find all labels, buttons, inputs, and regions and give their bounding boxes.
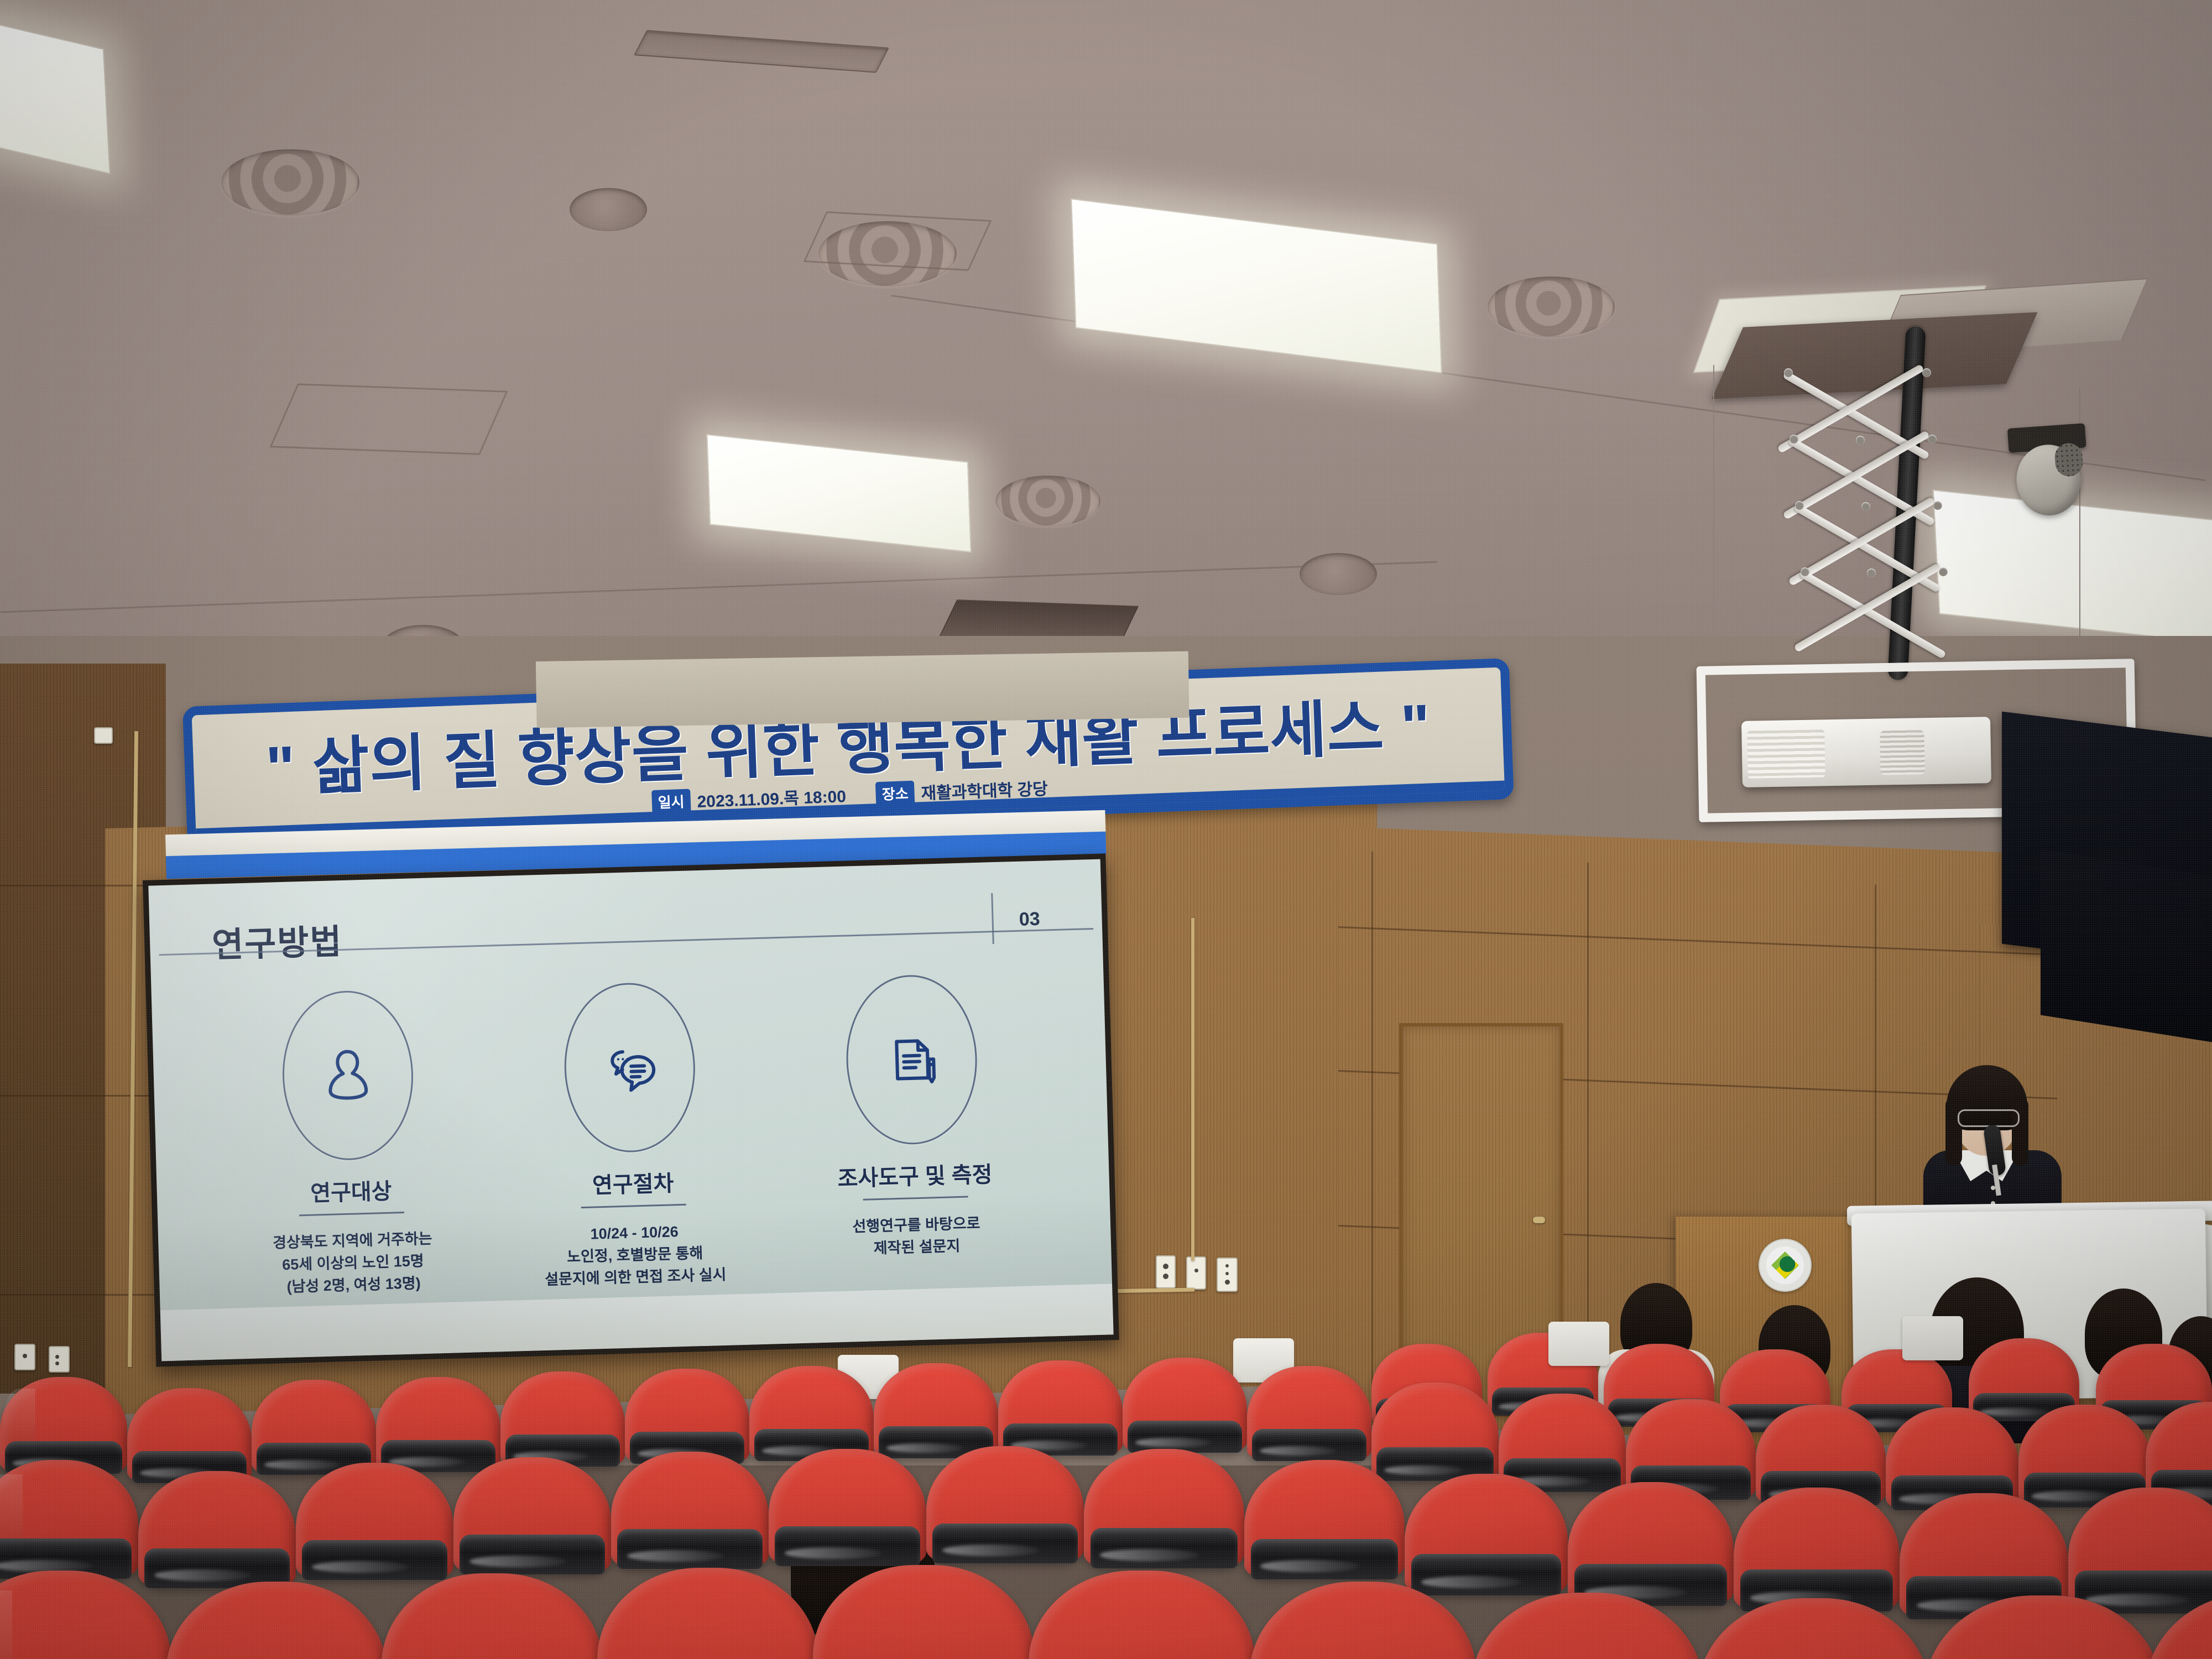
auditorium-seat[interactable] [296,1463,453,1580]
ceiling-downlight [570,188,647,231]
ceiling-light-panel [706,434,971,553]
ceiling-access-panel [269,383,508,455]
wall-outlet-plate[interactable] [14,1344,35,1370]
auditorium-seat[interactable] [1244,1460,1405,1579]
wall-outlet-plate[interactable] [1156,1255,1176,1288]
auditorium-seat[interactable] [769,1449,926,1566]
slide-column: 조사도구 및 측정 선행연구를 바탕으로 제작된 설문지 [799,972,1028,1284]
auditorium-seat[interactable] [1123,1358,1247,1453]
slide-page-number: 03 [1019,909,1040,931]
document-pencil-icon [878,1026,946,1094]
auditorium-seat[interactable] [166,1582,387,1659]
icon-circle [280,989,415,1162]
ceiling-access-panel [803,211,992,271]
auditorium-seat[interactable] [1405,1474,1568,1595]
banner-date-tag: 일시 [651,789,691,814]
auditorium-seat[interactable] [749,1366,874,1461]
projector-fan-grill [1880,730,1924,775]
ceiling-vent [221,149,359,216]
wall-outlet-plate[interactable] [49,1346,70,1373]
ceiling-slot-vent [634,30,889,73]
icon-circle [562,981,697,1154]
speech-bubbles-icon [596,1034,664,1102]
slide-column-body: 경상북도 지역에 거주하는 65세 이상의 노인 15명 (남성 2명, 여성 … [273,1228,434,1299]
auditorium-seat[interactable] [1029,1571,1255,1659]
auditorium-seat[interactable] [874,1363,998,1458]
auditorium-seat[interactable] [500,1371,625,1467]
ceiling-vent [1488,276,1615,337]
ceiling-light-panel [1071,198,1442,373]
door-knob[interactable] [1533,1217,1545,1223]
ceiling-edge-occlusion [536,651,1190,728]
auditorium-seat[interactable] [252,1380,376,1475]
auditorium-seat[interactable] [0,1460,138,1579]
auditorium-seat[interactable] [1084,1449,1244,1568]
ceiling-projector [1741,717,1991,787]
wall-jack-plate[interactable] [1217,1258,1238,1292]
daegu-university-emblem [1759,1239,1812,1292]
banner-place-tag: 장소 [875,780,915,806]
auditorium-seat[interactable] [1734,1488,1900,1611]
seat-back-panel [1902,1316,1963,1360]
ceiling-speaker [2004,423,2094,528]
auditorium-seat[interactable] [1371,1383,1499,1481]
slide-column-heading: 연구절차 [592,1165,674,1199]
projection-screen: 연구방법 03 연구대상 경 [143,853,1119,1366]
presenter-glasses [1958,1109,2020,1127]
icon-circle [844,973,979,1146]
auditorium-seat[interactable] [1247,1366,1371,1461]
slide-column-body: 선행연구를 바탕으로 제작된 설문지 [852,1213,981,1260]
presentation-slide: 연구방법 03 연구대상 경 [148,859,1113,1361]
slide-column-body: 10/24 - 10/26 노인정, 호별방문 통해 설문지에 의한 면접 조사… [544,1220,727,1291]
slide-column: 연구절차 10/24 - 10/26 노인정, 호별방문 통해 설문지에 의한 … [517,980,747,1292]
slide-column: 연구대상 경상북도 지역에 거주하는 65세 이상의 노인 15명 (남성 2명… [235,988,465,1300]
wall-trim-strip [1191,918,1194,1261]
wall-switch-plate[interactable] [1186,1256,1206,1290]
slide-columns: 연구대상 경상북도 지역에 거주하는 65세 이상의 노인 15명 (남성 2명… [195,971,1069,1301]
auditorium-seat[interactable] [1568,1482,1734,1606]
slide-page-rule [991,893,994,944]
lift-safety-cable [1713,365,1714,664]
scissor-lift-mount [1786,365,2018,686]
auditorium-seat[interactable] [597,1568,818,1659]
auditorium-seat[interactable] [926,1446,1084,1563]
auditorium-seat[interactable] [625,1369,749,1464]
slide-column-heading: 조사도구 및 측정 [837,1156,993,1193]
ceiling-downlight [1300,553,1377,595]
ceiling-vent [995,476,1100,526]
auditorium-seat[interactable] [376,1377,500,1472]
auditorium-seat[interactable] [382,1573,603,1659]
auditorium-seat[interactable] [138,1471,296,1588]
auditorium-seat[interactable] [1698,1598,1930,1659]
wall-marker-plate [94,727,113,744]
wall-mounted-display-lower [2041,849,2212,1042]
auditorium-seat[interactable] [998,1360,1123,1455]
slide-title: 연구방법 [211,914,343,967]
auditorium-seat[interactable] [611,1452,769,1569]
person-icon [314,1041,382,1109]
slide-column-heading: 연구대상 [310,1173,392,1208]
auditorium-photo: 2023 재활과학대학 학술제 " 삶의 질 향상을 위한 행복한 재활 프로세… [0,0,2212,1659]
ceiling-light-panel [0,16,111,174]
seat-back-panel [1548,1322,1609,1366]
projector-vent-grill [1747,729,1825,778]
auditorium-seat[interactable] [127,1388,252,1483]
auditorium-seat[interactable] [453,1457,611,1574]
auditorium-seat[interactable] [0,1377,127,1474]
